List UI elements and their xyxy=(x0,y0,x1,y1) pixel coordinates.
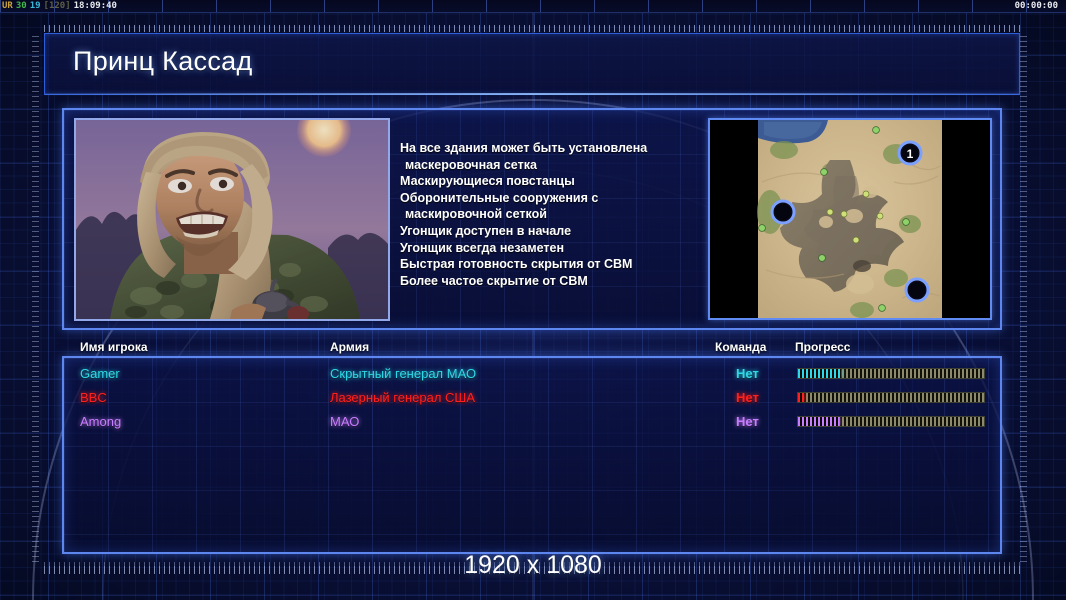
ability-line: На все здания может быть установлена xyxy=(400,140,700,157)
player-table-header: Имя игрока Армия Команда Прогресс xyxy=(62,338,1002,356)
game-lobby-screen: UR3019[120]18:09:40 00:00:00 Принц Касса… xyxy=(0,0,1066,600)
table-row[interactable]: Gamer Скрытный генерал МАО Нет xyxy=(64,363,1000,387)
title-panel: Принц Кассад xyxy=(44,33,1020,95)
progress-bar-track xyxy=(798,393,984,402)
player-name: Among xyxy=(80,414,121,429)
page-title: Принц Кассад xyxy=(73,46,253,77)
ability-line: Более частое скрытие от СВМ xyxy=(400,273,700,290)
progress-bar xyxy=(797,416,985,427)
ruler-top xyxy=(44,25,1020,32)
ability-line: маскировочной сеткой xyxy=(400,206,700,223)
player-name: BBC xyxy=(80,390,107,405)
ability-line: Угонщик всегда незаметен xyxy=(400,240,700,257)
ability-line: Маскирующиеся повстанцы xyxy=(400,173,700,190)
progress-bar-fill xyxy=(798,417,839,426)
player-army: Скрытный генерал МАО xyxy=(330,366,476,381)
player-table: Gamer Скрытный генерал МАО Нет BBC Лазер… xyxy=(62,356,1002,554)
match-timer: 00:00:00 xyxy=(1015,0,1058,13)
status-value-2: 19 xyxy=(30,1,44,11)
map-preview[interactable]: 1 xyxy=(708,118,992,320)
general-portrait xyxy=(74,118,390,321)
table-row[interactable]: Among МАО Нет xyxy=(64,411,1000,435)
ability-line: Угонщик доступен в начале xyxy=(400,223,700,240)
general-ability-list: На все здания может быть установлена мас… xyxy=(400,140,700,289)
player-name: Gamer xyxy=(80,366,120,381)
header-team: Команда xyxy=(715,340,766,354)
status-bar-ticks xyxy=(0,0,1066,12)
ability-line: Быстрая готовность скрытия от СВМ xyxy=(400,256,700,273)
status-bar-readout: UR3019[120]18:09:40 xyxy=(2,0,120,13)
resolution-label: 1920 x 1080 xyxy=(0,551,1066,580)
table-row[interactable]: BBC Лазерный генерал США Нет xyxy=(64,387,1000,411)
ability-line: маскеровочная сетка xyxy=(400,157,700,174)
status-tag: UR xyxy=(2,1,16,11)
player-team: Нет xyxy=(736,366,759,381)
ruler-left xyxy=(32,36,39,564)
status-clock: 18:09:40 xyxy=(74,1,120,11)
player-team: Нет xyxy=(736,390,759,405)
progress-bar xyxy=(797,368,985,379)
player-army: МАО xyxy=(330,414,359,429)
progress-bar xyxy=(797,392,985,403)
status-bar: UR3019[120]18:09:40 00:00:00 xyxy=(0,0,1066,13)
status-bracket: [120] xyxy=(44,1,74,11)
header-army: Армия xyxy=(330,340,369,354)
header-progress: Прогресс xyxy=(795,340,850,354)
player-team: Нет xyxy=(736,414,759,429)
ability-line: Оборонительные сооружения с xyxy=(400,190,700,207)
svg-text:1: 1 xyxy=(907,147,914,161)
header-player-name: Имя игрока xyxy=(80,340,148,354)
general-info-panel: На все здания может быть установлена мас… xyxy=(62,108,1002,330)
status-value-1: 30 xyxy=(16,1,30,11)
ruler-right xyxy=(1020,36,1027,564)
player-army: Лазерный генерал США xyxy=(330,390,475,405)
progress-bar-fill xyxy=(798,369,841,378)
progress-bar-fill xyxy=(798,393,804,402)
